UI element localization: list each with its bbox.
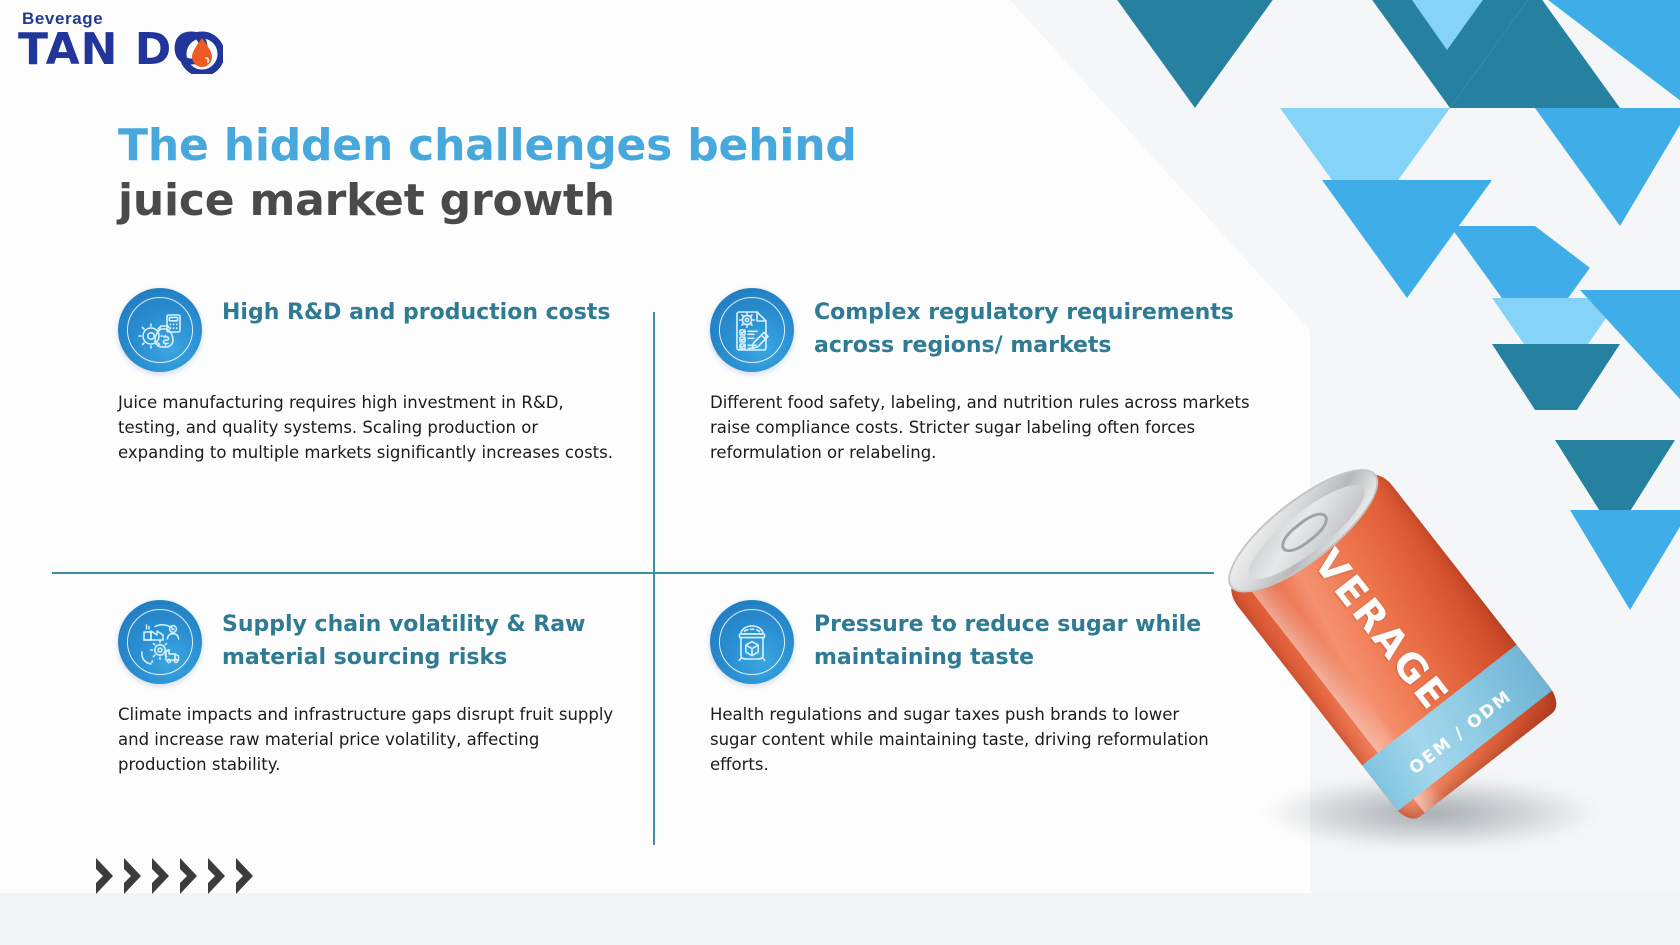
challenge-card-4: Pressure to reduce sugar while maintaini…: [710, 600, 1220, 777]
chevron-right-icon: [176, 855, 202, 897]
challenge-card-1: High R&D and production costs Juice manu…: [118, 288, 618, 465]
challenges-grid: High R&D and production costs Juice manu…: [0, 0, 1310, 945]
card-title: Supply chain volatility & Raw material s…: [222, 600, 618, 674]
supply-chain-factory-truck-icon: [118, 600, 202, 684]
card-header: High R&D and production costs: [118, 288, 618, 372]
chevron-right-icon: [148, 855, 174, 897]
card-body: Different food safety, labeling, and nut…: [710, 390, 1250, 465]
challenge-card-3: Supply chain volatility & Raw material s…: [118, 600, 618, 777]
card-title: Complex regulatory requirements across r…: [814, 288, 1250, 362]
card-header: Pressure to reduce sugar while maintaini…: [710, 600, 1220, 684]
challenge-card-2: Complex regulatory requirements across r…: [710, 288, 1250, 465]
beverage-can-image: BEVERAGE OEM / ODM: [1255, 455, 1635, 875]
chevron-arrows-decoration: [92, 855, 258, 897]
card-body: Health regulations and sugar taxes push …: [710, 702, 1220, 777]
card-body: Juice manufacturing requires high invest…: [118, 390, 618, 465]
chevron-right-icon: [232, 855, 258, 897]
card-body: Climate impacts and infrastructure gaps …: [118, 702, 618, 777]
document-checklist-pencil-icon: [710, 288, 794, 372]
sugar-sack-cube-icon: [710, 600, 794, 684]
card-title: High R&D and production costs: [222, 288, 611, 330]
card-header: Supply chain volatility & Raw material s…: [118, 600, 618, 684]
chevron-right-icon: [92, 855, 118, 897]
chevron-right-icon: [120, 855, 146, 897]
card-title: Pressure to reduce sugar while maintaini…: [814, 600, 1220, 674]
chevron-right-icon: [204, 855, 230, 897]
gear-moneybag-calculator-icon: [118, 288, 202, 372]
card-header: Complex regulatory requirements across r…: [710, 288, 1250, 372]
